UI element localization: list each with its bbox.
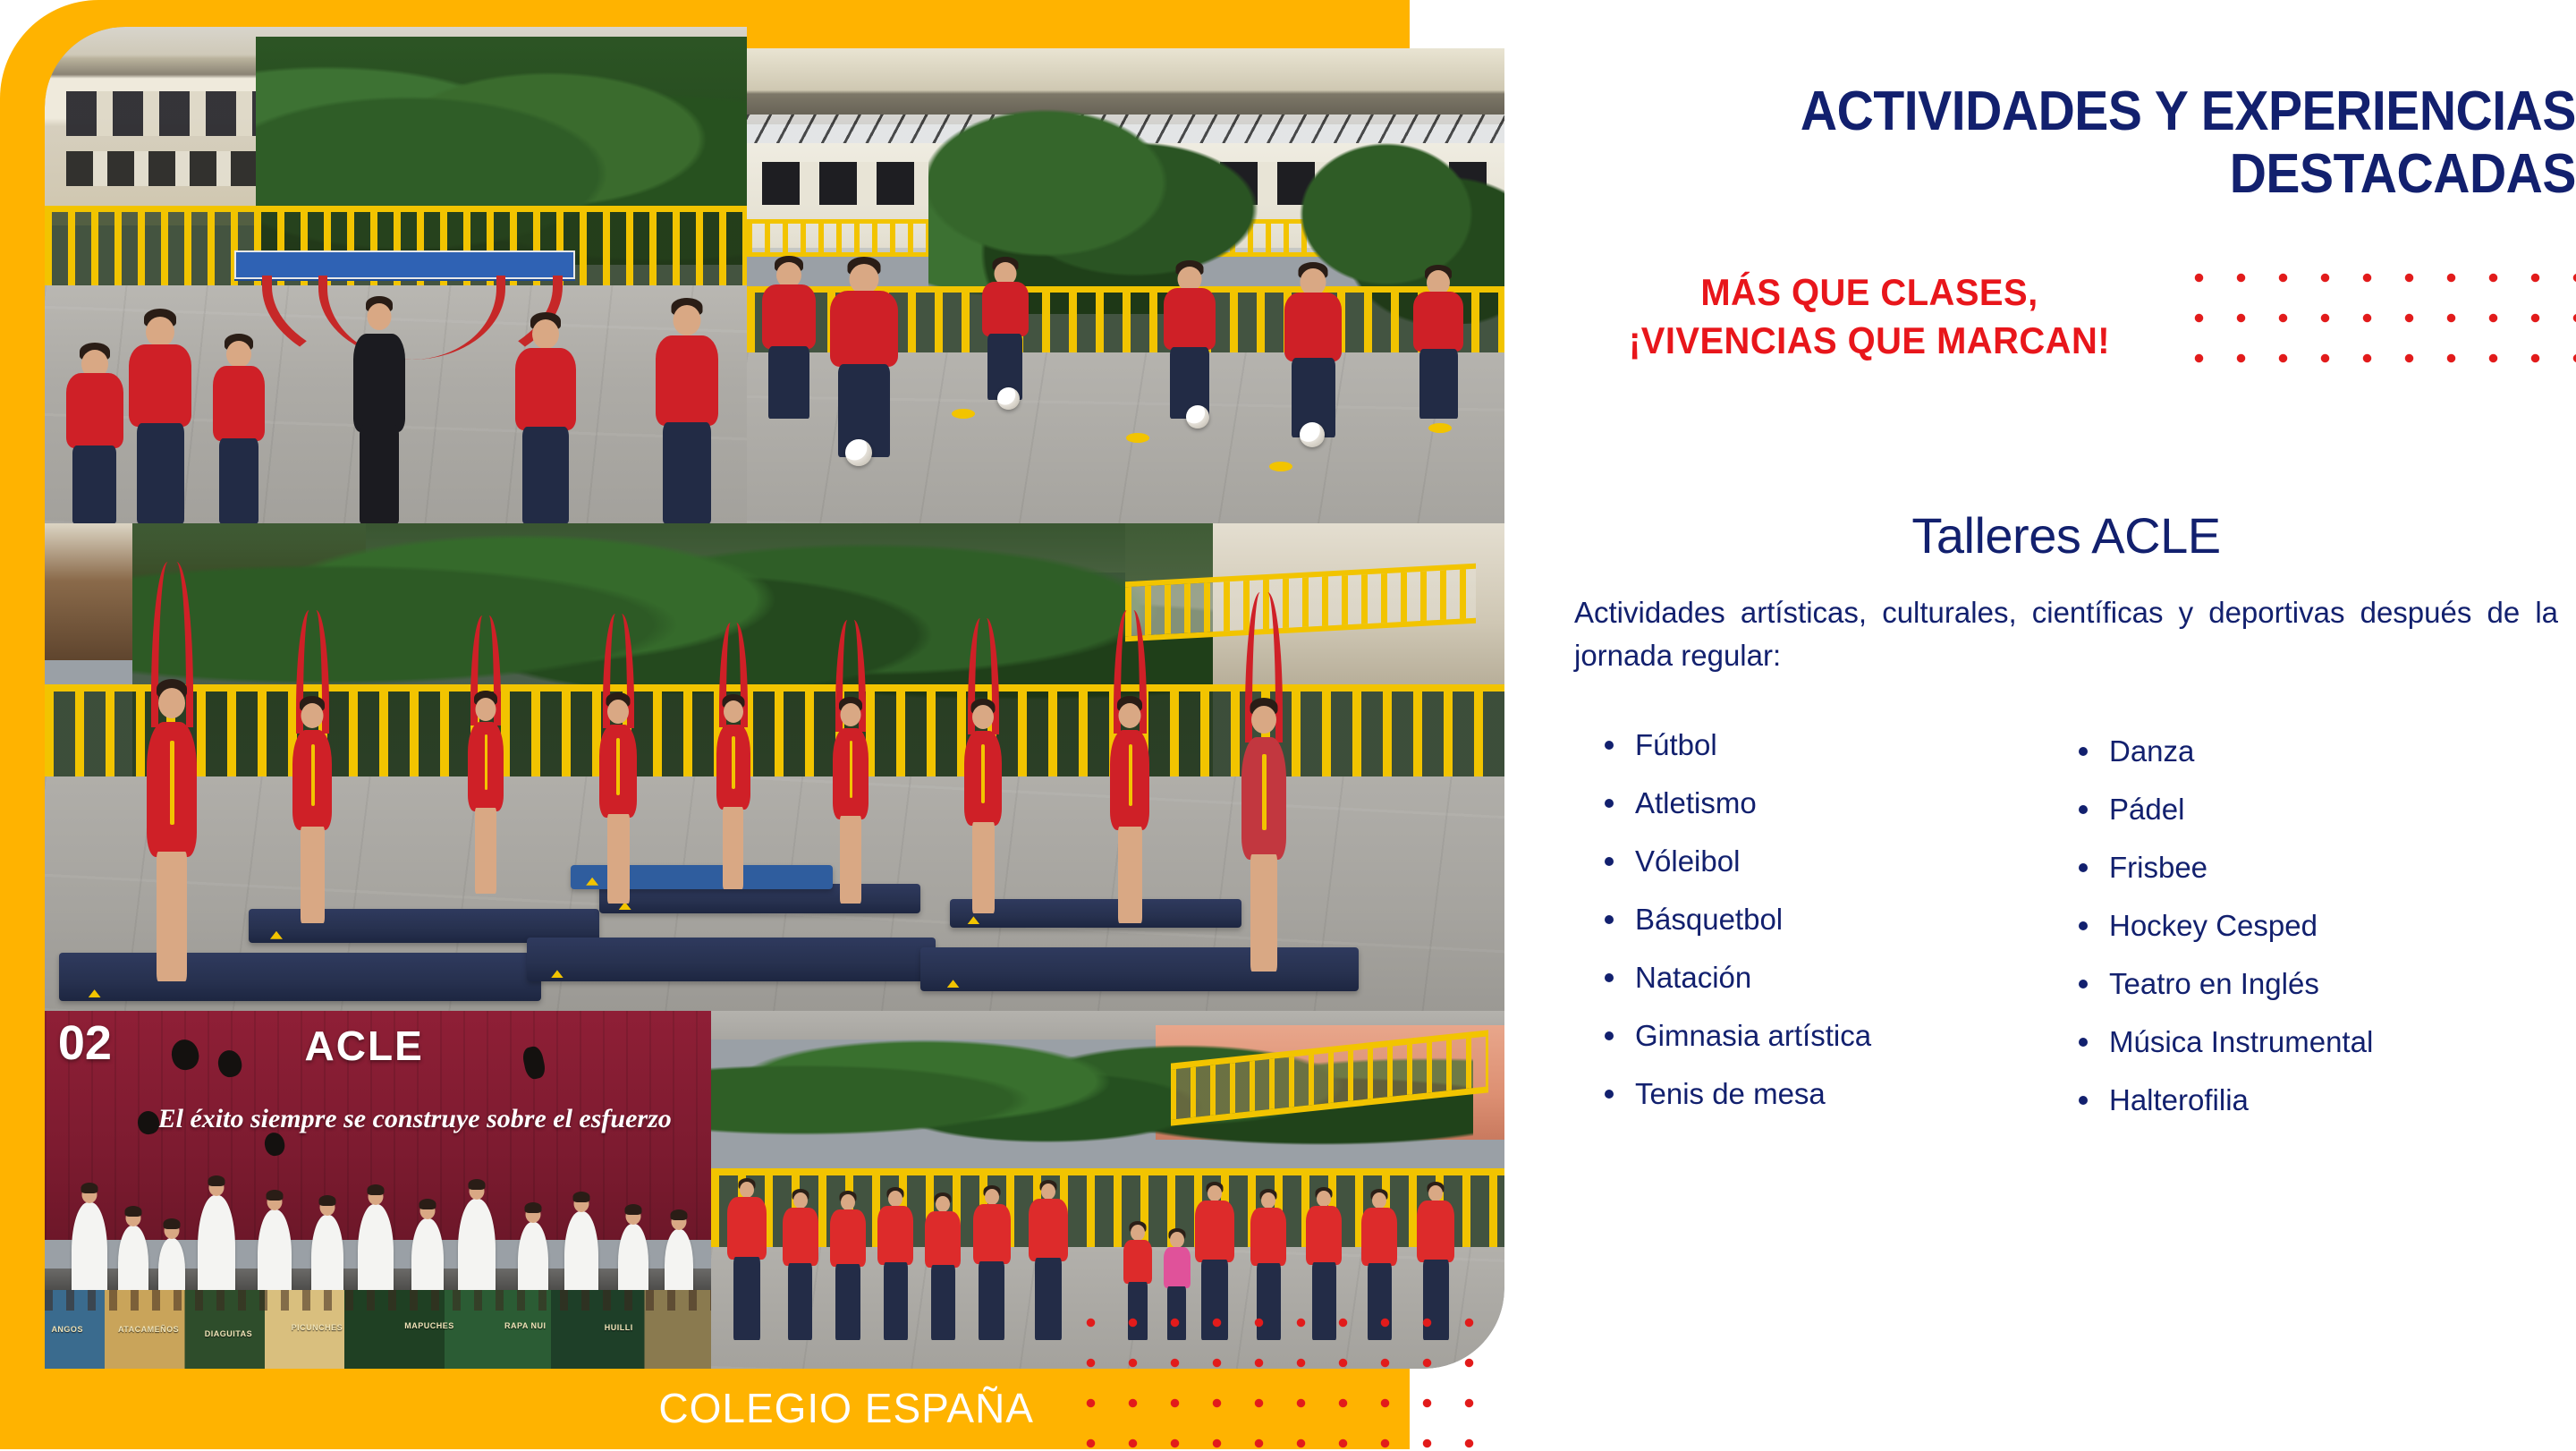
gy-gymnast-5: [716, 725, 750, 889]
tt-player-3: [213, 366, 265, 523]
st-student-4: [877, 1206, 913, 1340]
gy-gymnast-4: [599, 725, 637, 904]
st-student-14: [1417, 1201, 1454, 1340]
photo-dance-acle: 02 ACLE El éxito siempre se construye so…: [45, 1011, 711, 1369]
dn-banner-title: ACLE: [305, 1022, 424, 1070]
fb-player-3: [982, 282, 1029, 400]
tagline-line-2: ¡VIVENCIAS QUE MARCAN!: [1572, 317, 2167, 365]
page-title: ACTIVIDADES Y EXPERIENCIAS DESTACADAS: [1638, 81, 2576, 206]
gy-gymnast-8: [1110, 730, 1149, 923]
gy-mat-3: [527, 938, 936, 981]
tt-player-4: [515, 348, 576, 523]
mural-label-0: ANGOS: [51, 1325, 83, 1334]
mural-label-2: DIAGUITAS: [205, 1329, 252, 1338]
section-heading: Talleres ACLE: [1556, 506, 2576, 564]
st-student-3: [830, 1209, 866, 1340]
slide-root: 02 ACLE El éxito siempre se construye so…: [0, 0, 2576, 1449]
fb-tree-center: [928, 96, 1262, 314]
st-student-11: [1250, 1208, 1286, 1340]
tt-player-1: [66, 373, 123, 523]
list-item: Teatro en Inglés: [2073, 955, 2574, 1013]
gy-gymnast-3: [468, 722, 504, 894]
fb-player-1: [762, 284, 816, 419]
mural-label-5: RAPA NUI: [504, 1321, 547, 1330]
st-student-5: [925, 1211, 961, 1340]
brand-name: COLEGIO ESPAÑA: [658, 1384, 1034, 1432]
fb-ball-3: [1186, 405, 1209, 429]
page-title-line-2: DESTACADAS: [2230, 143, 2576, 205]
fb-player-4: [1164, 288, 1216, 419]
mural-label-4: MAPUCHES: [404, 1321, 454, 1330]
dn-banner-number: 02: [58, 1022, 112, 1066]
gy-gymnast-6: [833, 728, 869, 904]
list-item: Danza: [2073, 722, 2574, 780]
list-item: Tenis de mesa: [1599, 1065, 2064, 1123]
list-item: Frisbee: [2073, 838, 2574, 896]
list-item: Fútbol: [1599, 716, 2064, 774]
list-item: Natación: [1599, 948, 2064, 1006]
tt-player-5: [656, 335, 718, 523]
fb-cone-3: [1269, 462, 1292, 471]
tt-player-2: [129, 344, 191, 523]
gy-gymnast-2: [292, 730, 332, 923]
mural-label-3: PICUNCHES: [292, 1323, 343, 1332]
list-item: Música Instrumental: [2073, 1013, 2574, 1071]
list-item: Básquetbol: [1599, 890, 2064, 948]
workshops-right-column: Danza Pádel Frisbee Hockey Cesped Teatro…: [2073, 716, 2574, 1129]
photo-students-lineup: [711, 1011, 1504, 1369]
fb-ball-2: [997, 387, 1020, 410]
fb-player-2: [830, 291, 898, 457]
page-title-line-1: ACTIVIDADES Y EXPERIENCIAS: [1801, 81, 2576, 142]
list-item: Halterofilia: [2073, 1071, 2574, 1129]
dn-mural-wall: ANGOS ATACAMEÑOS DIAGUITAS PICUNCHES MAP…: [45, 1290, 711, 1369]
st-student-9: [1164, 1247, 1191, 1340]
st-student-13: [1361, 1208, 1397, 1340]
tagline-line-1: MÁS QUE CLASES,: [1572, 268, 2167, 317]
photo-collage: 02 ACLE El éxito siempre se construye so…: [45, 27, 1504, 1369]
brand-bar: COLEGIO ESPAÑA: [0, 1367, 1410, 1449]
st-student-12: [1306, 1206, 1342, 1340]
fb-player-6: [1413, 292, 1463, 419]
mural-label-1: ATACAMEÑOS: [118, 1325, 179, 1334]
tagline: MÁS QUE CLASES, ¡VIVENCIAS QUE MARCAN!: [1572, 268, 2167, 365]
photo-gymnastics: [45, 523, 1504, 1011]
workshops-left-column: Fútbol Atletismo Vóleibol Básquetbol Nat…: [1599, 716, 2064, 1129]
list-item: Hockey Cesped: [2073, 896, 2574, 955]
tt-coach: [353, 334, 405, 523]
mural-label-6: HUILLI: [605, 1323, 633, 1332]
content-panel: ACTIVIDADES Y EXPERIENCIAS DESTACADAS MÁ…: [1556, 0, 2576, 1449]
st-student-1: [727, 1197, 767, 1340]
dn-banner-quote: El éxito siempre se construye sobre el e…: [158, 1104, 691, 1134]
fb-cone-2: [1126, 433, 1149, 443]
workshops-lists: Fútbol Atletismo Vóleibol Básquetbol Nat…: [1574, 716, 2576, 1129]
list-item: Gimnasia artística: [1599, 1006, 2064, 1065]
gy-gymnast-9: [1241, 737, 1286, 972]
intro-paragraph: Actividades artísticas, culturales, cien…: [1574, 591, 2558, 677]
list-item: Pádel: [2073, 780, 2574, 838]
list-item: Atletismo: [1599, 774, 2064, 832]
st-student-2: [783, 1208, 818, 1340]
st-student-6: [973, 1204, 1011, 1340]
photo-table-tennis: [45, 27, 747, 523]
gy-mat-5: [920, 947, 1359, 991]
gy-gymnast-7: [964, 731, 1002, 913]
st-student-7: [1029, 1199, 1068, 1340]
gy-mat-1: [59, 953, 541, 1002]
fb-cone-1: [952, 409, 975, 419]
fb-player-5: [1284, 293, 1342, 437]
st-student-8: [1123, 1240, 1152, 1340]
list-item: Vóleibol: [1599, 832, 2064, 890]
gy-gymnast-1: [147, 722, 197, 981]
st-student-10: [1195, 1201, 1234, 1340]
photo-football: [747, 48, 1504, 523]
